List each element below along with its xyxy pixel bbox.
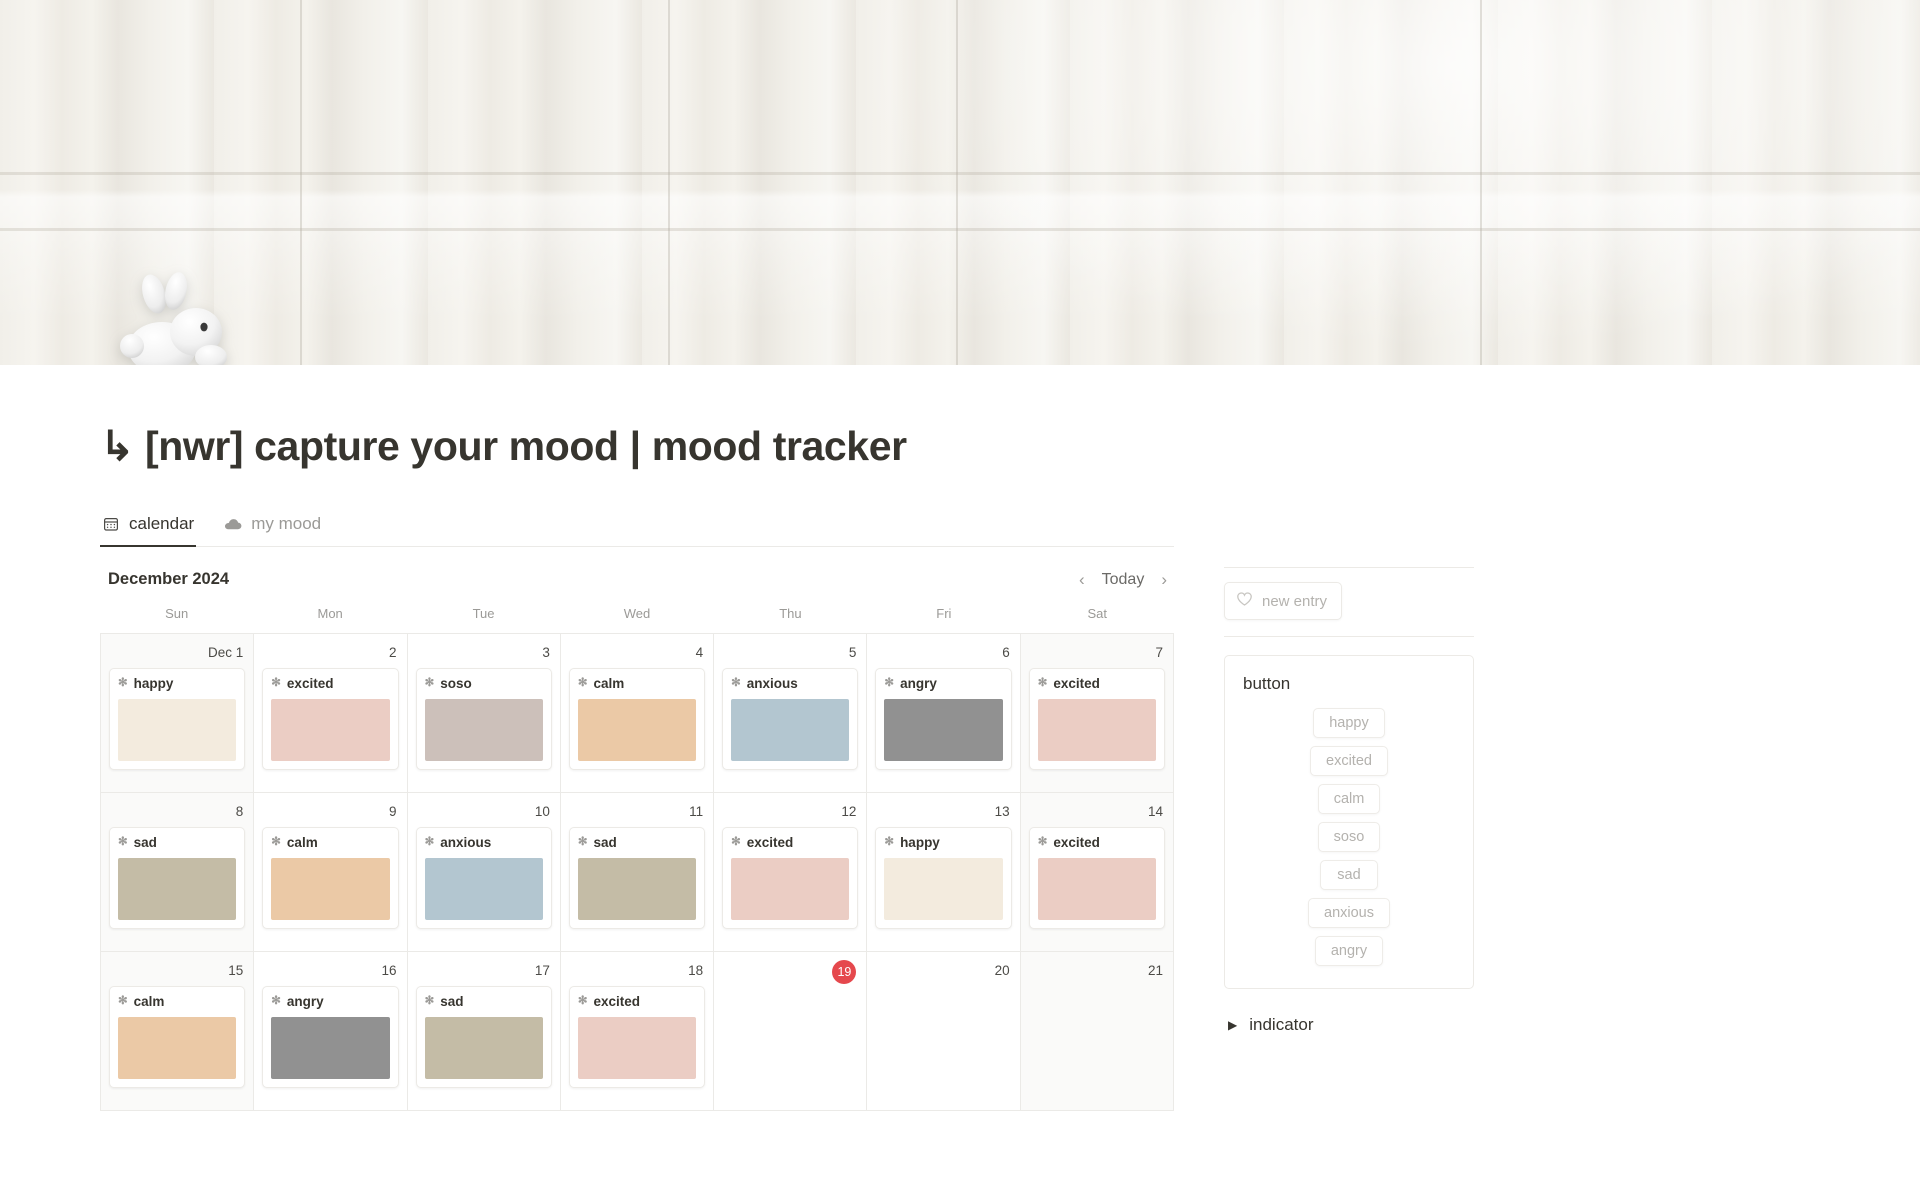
page-title: ↳ [nwr] capture your mood | mood tracker [100,423,1860,470]
cover-seam [668,0,670,365]
calendar-week-row: Dec 1✻happy2✻excited3✻soso4✻calm5✻anxiou… [101,634,1174,793]
mood-button-calm[interactable]: calm [1318,784,1381,814]
mood-color-swatch [731,699,849,761]
mood-entry-label: soso [440,676,472,691]
day-number: 2 [262,642,398,664]
cover-band [0,172,1920,175]
calendar-day-cell[interactable]: 15✻calm [101,952,254,1111]
day-number: 20 [875,960,1011,982]
indicator-label: indicator [1249,1015,1313,1035]
mood-entry-card[interactable]: ✻calm [569,668,705,770]
snowflake-icon: ✻ [884,678,894,690]
calendar-day-cell[interactable]: 14✻excited [1021,793,1174,952]
mood-color-swatch [425,1017,543,1079]
calendar-day-cell[interactable]: 13✻happy [867,793,1020,952]
new-entry-label: new entry [1262,593,1327,610]
mood-button-sad[interactable]: sad [1320,860,1378,890]
mood-entry-label: sad [593,835,616,850]
snowflake-icon: ✻ [118,678,128,690]
day-number: 3 [416,642,552,664]
mood-entry-title: ✻angry [884,676,1002,691]
mood-entry-card[interactable]: ✻calm [109,986,245,1088]
today-badge: 19 [832,960,856,984]
snowflake-icon: ✻ [271,996,281,1008]
mood-button-soso[interactable]: soso [1318,822,1381,852]
mood-entry-label: excited [1053,835,1100,850]
calendar-day-cell[interactable]: 18✻excited [561,952,714,1111]
mood-entry-card[interactable]: ✻angry [262,986,398,1088]
cover-seam [300,0,302,365]
day-number: 17 [416,960,552,982]
mood-button-excited[interactable]: excited [1310,746,1388,776]
mood-entry-label: excited [593,994,640,1009]
mood-entry-title: ✻sad [578,835,696,850]
mood-entry-card[interactable]: ✻excited [262,668,398,770]
mood-color-swatch [425,858,543,920]
calendar-grid: Dec 1✻happy2✻excited3✻soso4✻calm5✻anxiou… [100,633,1174,1111]
cover-banner [0,0,1920,365]
heart-icon [1236,591,1253,611]
calendar-view: December 2024 ‹ Today › SunMonTueWedThuF… [100,547,1174,1111]
mood-entry-title: ✻soso [425,676,543,691]
snowflake-icon: ✻ [731,678,741,690]
cloud-icon [224,515,242,533]
mood-entry-title: ✻anxious [425,835,543,850]
tab-bar: calendar my mood [100,514,1174,547]
calendar-day-cell[interactable]: 8✻sad [101,793,254,952]
snowflake-icon: ✻ [731,837,741,849]
mood-color-swatch [118,699,236,761]
cover-seam [956,0,958,365]
mood-entry-label: happy [900,835,940,850]
day-of-week-header: SunMonTueWedThuFriSat [100,606,1174,633]
mood-color-swatch [118,1017,236,1079]
mood-entry-title: ✻calm [578,676,696,691]
mood-entry-card[interactable]: ✻sad [416,986,552,1088]
mood-color-swatch [271,1017,389,1079]
mood-entry-label: calm [134,994,165,1009]
snowflake-icon: ✻ [578,678,588,690]
mood-color-swatch [578,1017,696,1079]
sidebar-divider-top [1224,567,1474,568]
mood-entry-label: calm [593,676,624,691]
snowflake-icon: ✻ [425,996,435,1008]
mood-button-angry[interactable]: angry [1315,936,1383,966]
mood-entry-card[interactable]: ✻excited [722,827,858,929]
mood-entry-card[interactable]: ✻sad [109,827,245,929]
day-number: 9 [262,801,398,823]
day-of-week-wed: Wed [560,606,713,633]
calendar-day-cell[interactable]: 19 [714,952,867,1111]
snowflake-icon: ✻ [578,996,588,1008]
day-number: 19 [722,960,858,982]
mood-color-swatch [271,858,389,920]
day-of-week-thu: Thu [714,606,867,633]
snowflake-icon: ✻ [271,678,281,690]
mood-entry-label: anxious [440,835,491,850]
calendar-week-row: 15✻calm16✻angry17✻sad18✻excited192021 [101,952,1174,1111]
mood-entry-title: ✻anxious [731,676,849,691]
mood-color-swatch [578,699,696,761]
mood-entry-label: excited [287,676,334,691]
mood-entry-card[interactable]: ✻happy [875,827,1011,929]
day-number: 15 [109,960,245,982]
day-number: 7 [1029,642,1165,664]
calendar-day-cell[interactable]: 3✻soso [408,634,561,793]
day-of-week-sun: Sun [100,606,253,633]
calendar-day-cell[interactable]: 7✻excited [1021,634,1174,793]
button-panel-label: button [1243,674,1455,694]
mood-button-anxious[interactable]: anxious [1308,898,1390,928]
calendar-day-cell[interactable]: Dec 1✻happy [101,634,254,793]
mood-color-swatch [884,699,1002,761]
tab-my-mood[interactable]: my mood [222,514,323,546]
page-content: ↳ [nwr] capture your mood | mood tracker [0,423,1920,1111]
day-number: Dec 1 [109,642,245,664]
mood-entry-card[interactable]: ✻excited [1029,668,1165,770]
today-button[interactable]: Today [1102,571,1145,589]
mood-entry-card[interactable]: ✻sad [569,827,705,929]
snowflake-icon: ✻ [1038,678,1048,690]
mood-entry-title: ✻excited [578,994,696,1009]
snowflake-icon: ✻ [425,837,435,849]
cover-seam [1480,0,1482,365]
sidebar: new entry button happyexcitedcalmsososad… [1224,547,1474,1035]
mood-entry-label: excited [1053,676,1100,691]
mood-entry-card[interactable]: ✻soso [416,668,552,770]
day-number: 8 [109,801,245,823]
day-of-week-sat: Sat [1021,606,1174,633]
day-of-week-mon: Mon [253,606,406,633]
day-of-week-tue: Tue [407,606,560,633]
day-of-week-fri: Fri [867,606,1020,633]
white-bunny-figurine-icon [110,272,234,365]
mood-entry-label: sad [440,994,463,1009]
mood-entry-card[interactable]: ✻excited [569,986,705,1088]
mood-entry-card[interactable]: ✻happy [109,668,245,770]
mood-entry-title: ✻sad [425,994,543,1009]
mood-entry-label: happy [134,676,174,691]
main-columns: December 2024 ‹ Today › SunMonTueWedThuF… [100,547,1860,1111]
mood-entry-card[interactable]: ✻excited [1029,827,1165,929]
cover-sheen [0,0,1920,365]
button-panel: button happyexcitedcalmsososadanxiousang… [1224,655,1474,989]
snowflake-icon: ✻ [425,678,435,690]
day-number: 5 [722,642,858,664]
day-number: 16 [262,960,398,982]
tab-calendar[interactable]: calendar [100,514,196,546]
snowflake-icon: ✻ [884,837,894,849]
mood-color-swatch [425,699,543,761]
sidebar-divider-mid [1224,636,1474,637]
day-number: 14 [1029,801,1165,823]
mood-entry-title: ✻excited [731,835,849,850]
triangle-right-icon: ▶ [1228,1018,1237,1032]
calendar-day-cell[interactable]: 16✻angry [254,952,407,1111]
snowflake-icon: ✻ [118,837,128,849]
calendar-icon [102,515,120,533]
mood-button-happy[interactable]: happy [1313,708,1385,738]
calendar-day-cell[interactable]: 5✻anxious [714,634,867,793]
mood-entry-label: angry [900,676,937,691]
calendar-header: December 2024 ‹ Today › [100,547,1174,606]
snowflake-icon: ✻ [1038,837,1048,849]
day-number: 13 [875,801,1011,823]
mood-color-swatch [271,699,389,761]
snowflake-icon: ✻ [271,837,281,849]
mood-entry-card[interactable]: ✻angry [875,668,1011,770]
calendar-day-cell[interactable]: 2✻excited [254,634,407,793]
calendar-day-cell[interactable]: 17✻sad [408,952,561,1111]
snowflake-icon: ✻ [118,996,128,1008]
mood-entry-title: ✻sad [118,835,236,850]
mood-entry-card[interactable]: ✻anxious [416,827,552,929]
mood-button-list: happyexcitedcalmsososadanxiousangry [1243,708,1455,966]
calendar-day-cell[interactable]: 10✻anxious [408,793,561,952]
mood-entry-title: ✻happy [118,676,236,691]
mood-color-swatch [118,858,236,920]
mood-color-swatch [578,858,696,920]
calendar-day-cell[interactable]: 20 [867,952,1020,1111]
snowflake-icon: ✻ [578,837,588,849]
mood-entry-label: angry [287,994,324,1009]
mood-entry-label: anxious [747,676,798,691]
mood-entry-label: calm [287,835,318,850]
calendar-day-cell[interactable]: 9✻calm [254,793,407,952]
page-icon-bunny[interactable] [110,272,234,365]
indicator-toggle[interactable]: ▶ indicator [1224,1015,1474,1035]
calendar-week-row: 8✻sad9✻calm10✻anxious11✻sad12✻excited13✻… [101,793,1174,952]
mood-entry-title: ✻calm [271,835,389,850]
mood-entry-title: ✻calm [118,994,236,1009]
day-number: 21 [1029,960,1165,982]
tab-calendar-label: calendar [129,514,194,534]
mood-entry-card[interactable]: ✻anxious [722,668,858,770]
day-number: 10 [416,801,552,823]
mood-entry-card[interactable]: ✻calm [262,827,398,929]
day-number: 6 [875,642,1011,664]
mood-entry-title: ✻angry [271,994,389,1009]
mood-entry-title: ✻excited [1038,835,1156,850]
day-number: 12 [722,801,858,823]
page-body: ↳ [nwr] capture your mood | mood tracker [0,423,1920,1111]
calendar-nav: ‹ Today › [1076,569,1170,590]
day-number: 11 [569,801,705,823]
tab-my-mood-label: my mood [251,514,321,534]
mood-entry-title: ✻happy [884,835,1002,850]
calendar-day-cell[interactable]: 4✻calm [561,634,714,793]
calendar-day-cell[interactable]: 11✻sad [561,793,714,952]
calendar-day-cell[interactable]: 21 [1021,952,1174,1111]
mood-color-swatch [731,858,849,920]
mood-color-swatch [884,858,1002,920]
day-number: 4 [569,642,705,664]
chevron-right-icon[interactable]: › [1158,569,1170,590]
cover-band [0,228,1920,231]
mood-entry-title: ✻excited [1038,676,1156,691]
mood-entry-title: ✻excited [271,676,389,691]
calendar-month-label: December 2024 [108,570,229,589]
mood-entry-label: sad [134,835,157,850]
calendar-day-cell[interactable]: 12✻excited [714,793,867,952]
chevron-left-icon[interactable]: ‹ [1076,569,1088,590]
day-number: 18 [569,960,705,982]
mood-color-swatch [1038,858,1156,920]
calendar-day-cell[interactable]: 6✻angry [867,634,1020,793]
new-entry-button[interactable]: new entry [1224,582,1342,620]
mood-entry-label: excited [747,835,794,850]
mood-color-swatch [1038,699,1156,761]
